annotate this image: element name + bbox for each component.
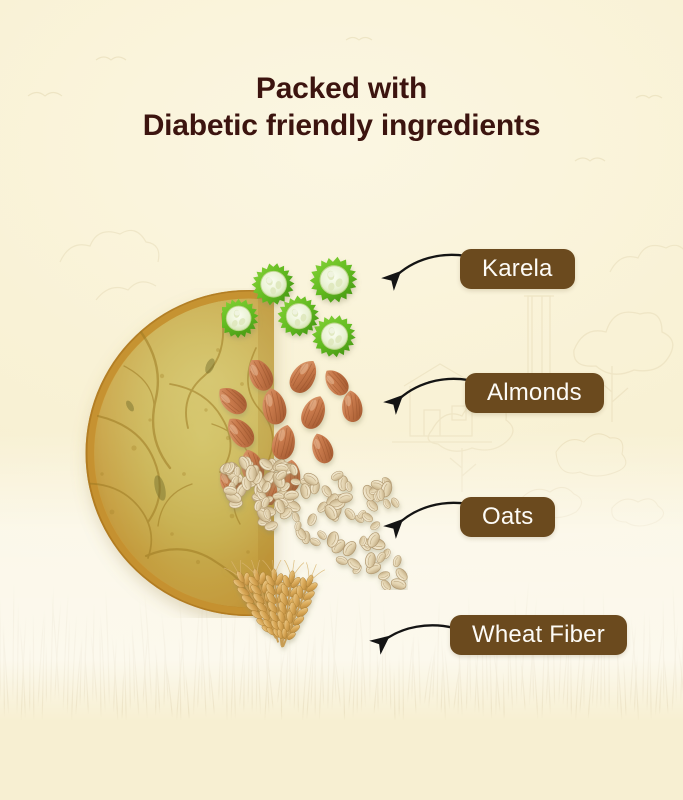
ingredient-wheat-fiber [218,560,398,695]
oat-flake [389,496,400,508]
bottom-band [0,720,683,800]
callout-text: Karela [482,255,553,283]
callout-label-oats[interactable]: Oats [460,497,555,537]
almond [221,412,259,452]
title-line-2: Diabetic friendly ingredients [0,107,683,144]
title-line-1: Packed with [0,70,683,107]
almond [259,386,288,426]
almond [285,360,323,397]
almond [218,381,252,419]
callout-text: Wheat Fiber [472,621,605,649]
oat-flake [343,507,357,522]
karela-slice [307,253,360,306]
karela-slice [222,292,264,344]
oat-flake [309,536,322,547]
oat-flake [234,466,241,476]
callout-label-wheat-fiber[interactable]: Wheat Fiber [450,615,627,655]
oat-flake [306,512,318,526]
callout-text: Almonds [487,379,582,407]
page-title: Packed with Diabetic friendly ingredient… [0,70,683,144]
almond [297,392,330,432]
promo-graphic: Packed with Diabetic friendly ingredient… [0,0,683,800]
oat-flake [246,465,257,481]
callout-label-karela[interactable]: Karela [460,249,575,289]
callout-label-almonds[interactable]: Almonds [465,373,604,413]
callout-text: Oats [482,503,533,531]
oat-flake [290,478,301,486]
